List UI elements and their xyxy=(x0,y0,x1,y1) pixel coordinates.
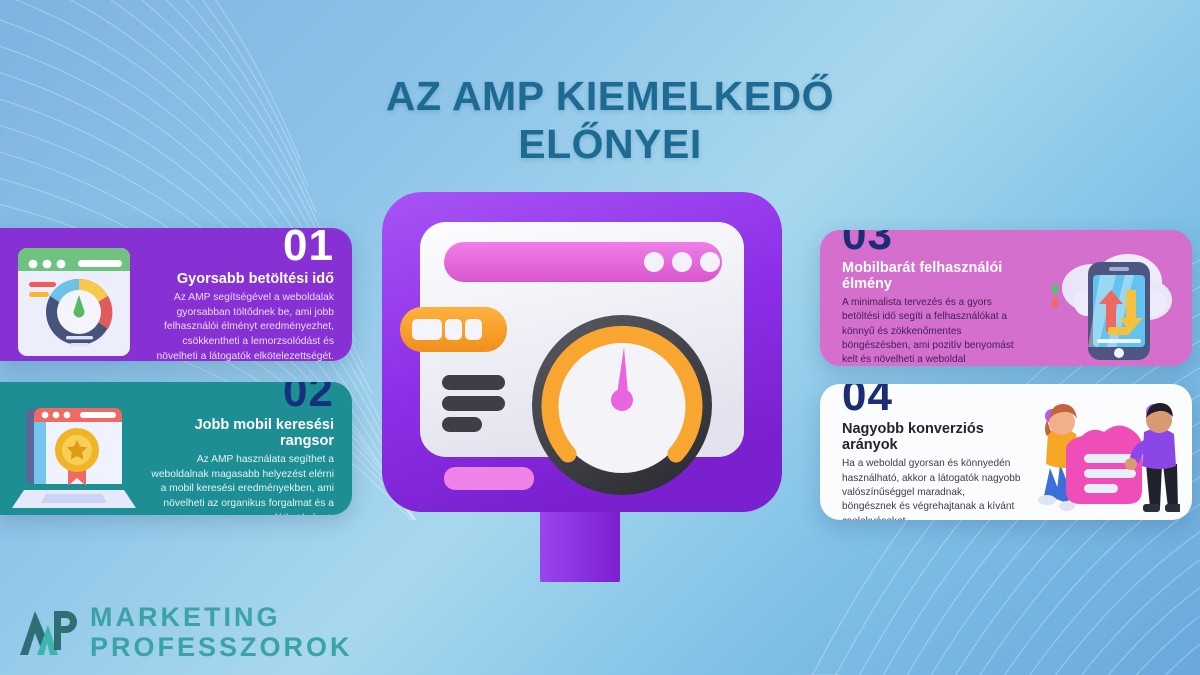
benefit-card-02[interactable]: 02 Jobb mobil keresési rangsor Az AMP ha… xyxy=(0,382,352,515)
card-description: Az AMP segítségével a weboldalak gyorsab… xyxy=(148,291,334,361)
card-heading: Nagyobb konverziós arányok xyxy=(842,421,1022,453)
browser-speed-gauge-icon xyxy=(12,240,136,361)
benefit-card-04[interactable]: 04 Nagyobb konverziós arányok Ha a webol… xyxy=(820,384,1192,520)
monitor-speedometer-3d-illustration xyxy=(372,182,792,582)
card-number: 04 xyxy=(842,384,893,417)
card-heading: Jobb mobil keresési rangsor xyxy=(148,417,334,449)
cloud-mobile-transfer-icon xyxy=(1030,242,1180,354)
card-heading: Mobilbarát felhasználói élmény xyxy=(842,260,1022,292)
card-description: A minimalista tervezés és a gyors betölt… xyxy=(842,296,1022,366)
card-description: Az AMP használata segíthet a weboldalnak… xyxy=(148,453,334,515)
card-number: 01 xyxy=(283,228,334,267)
benefit-card-03[interactable]: 03 Mobilbarát felhasználói élmény A mini… xyxy=(820,230,1192,366)
brand-logo[interactable]: MARKETING PROFESSZOROK xyxy=(18,604,353,661)
card-heading: Gyorsabb betöltési idő xyxy=(177,271,334,287)
card-description: Ha a weboldal gyorsan és könnyedén haszn… xyxy=(842,457,1022,520)
benefit-card-01[interactable]: 01 Gyorsabb betöltési idő Az AMP segítsé… xyxy=(0,228,352,361)
monitor-stand xyxy=(540,500,620,582)
card-number: 02 xyxy=(283,382,334,413)
mp-monogram-icon xyxy=(18,609,80,657)
people-chat-bubble-icon xyxy=(1030,396,1180,508)
logo-line-1: MARKETING xyxy=(90,604,353,631)
logo-line-2: PROFESSZOROK xyxy=(90,634,353,661)
laptop-award-badge-icon xyxy=(12,394,136,515)
card-number: 03 xyxy=(842,230,893,256)
page-title: AZ AMP KIEMELKEDŐ ELŐNYEI xyxy=(300,72,920,169)
